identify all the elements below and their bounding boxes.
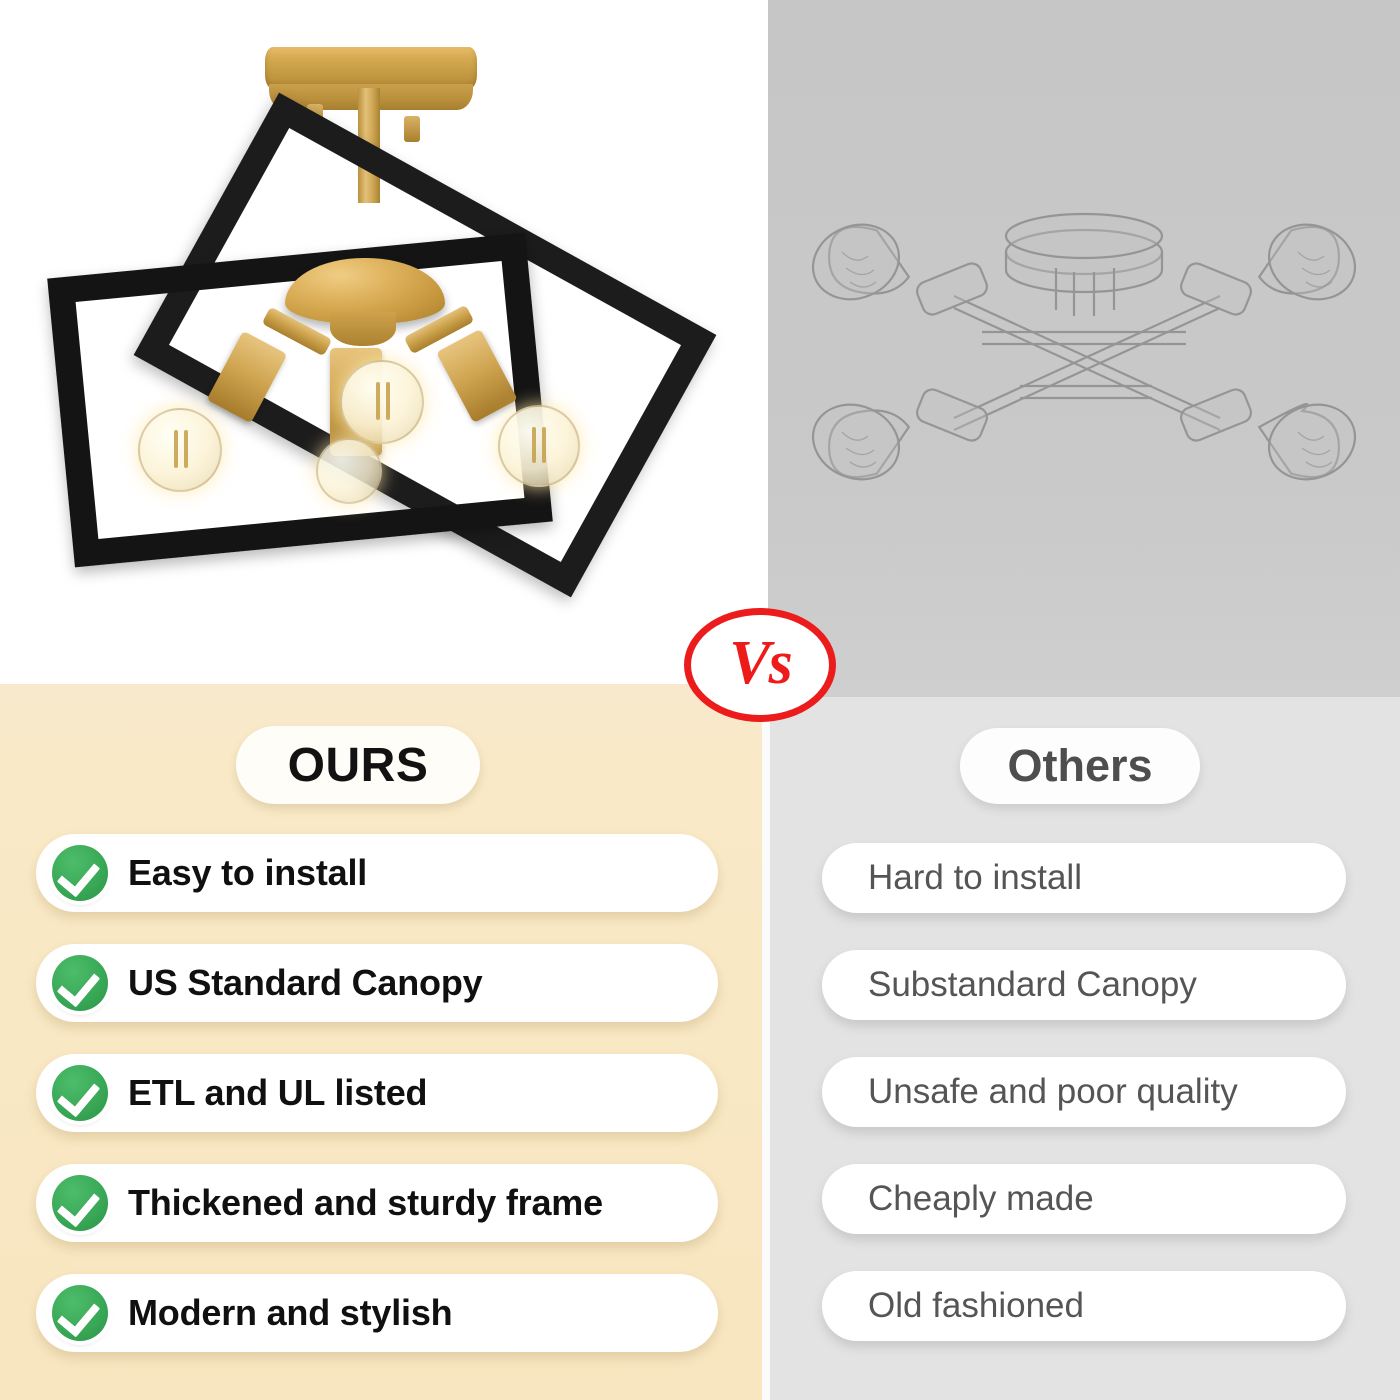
vs-badge: Vs [684,608,836,722]
others-item-label: Old fashioned [868,1271,1326,1341]
others-list-item[interactable]: Hard to install [822,843,1346,913]
others-list-item[interactable]: Cheaply made [822,1164,1346,1234]
others-list-item[interactable]: Old fashioned [822,1271,1346,1341]
others-item-label: Substandard Canopy [868,950,1326,1020]
check-icon [52,1065,108,1121]
vs-label: Vs [684,608,836,722]
check-icon [52,1285,108,1341]
check-icon [52,955,108,1011]
others-list-item[interactable]: Unsafe and poor quality [822,1057,1346,1127]
others-item-label: Unsafe and poor quality [868,1057,1326,1127]
check-icon [52,1175,108,1231]
others-item-label: Hard to install [868,843,1326,913]
others-item-label: Cheaply made [868,1164,1326,1234]
check-icon [52,845,108,901]
others-list-item[interactable]: Substandard Canopy [822,950,1346,1020]
comparison-infographic: Vs OURS Others Easy to install US Standa… [0,0,1400,1400]
